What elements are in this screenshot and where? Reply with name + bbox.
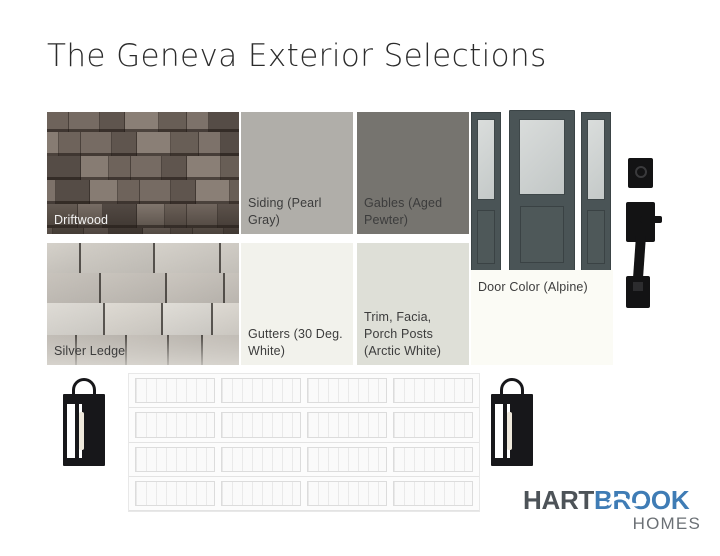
garage-door-image[interactable] bbox=[128, 373, 480, 512]
door-handleset-image[interactable] bbox=[622, 158, 662, 310]
lantern-backplate bbox=[510, 400, 533, 462]
lantern-bulb-icon bbox=[79, 412, 84, 450]
lantern-base bbox=[63, 458, 105, 466]
handleset-bottom-notch bbox=[633, 282, 643, 291]
door-raised-panel bbox=[520, 206, 564, 263]
swatch-label-siding: Siding (Pearl Gray) bbox=[248, 195, 347, 229]
door-sidelite-left bbox=[471, 112, 501, 271]
swatch-label-door-color: Door Color (Alpine) bbox=[478, 279, 607, 296]
swatch-shingle-driftwood[interactable]: Driftwood bbox=[47, 112, 239, 234]
sidelite-left-glass bbox=[477, 119, 495, 200]
handleset-lever-icon bbox=[640, 216, 662, 223]
logo-swoosh-icon bbox=[607, 495, 647, 509]
swatch-gutters-30-deg-white[interactable]: Gutters (30 Deg. White) bbox=[241, 243, 353, 365]
swatch-gables-aged-pewter[interactable]: Gables (Aged Pewter) bbox=[357, 112, 469, 234]
sidelite-right-panel bbox=[587, 210, 605, 264]
lantern-backplate bbox=[82, 400, 105, 462]
logo-text-homes: HOMES bbox=[633, 514, 701, 533]
door-sidelite-right bbox=[581, 112, 611, 271]
deadbolt-thumbturn-icon bbox=[635, 166, 647, 178]
sidelite-left-panel bbox=[477, 210, 495, 264]
deadbolt-escutcheon bbox=[628, 158, 653, 188]
swatch-door-color-alpine[interactable]: Door Color (Alpine) bbox=[471, 270, 613, 365]
swatch-label-gables: Gables (Aged Pewter) bbox=[364, 195, 463, 229]
outdoor-lantern-right[interactable] bbox=[483, 378, 541, 466]
hartbrook-homes-logo: HARTBROOK HOMES bbox=[523, 486, 703, 534]
lantern-mullion bbox=[503, 400, 507, 462]
swatch-trim-arctic-white[interactable]: Trim, Facia, Porch Posts (Arctic White) bbox=[357, 243, 469, 365]
slide-canvas: The Geneva Exterior Selections Driftwood… bbox=[0, 0, 720, 556]
swatch-label-gutters: Gutters (30 Deg. White) bbox=[248, 326, 347, 360]
lantern-base bbox=[491, 458, 533, 466]
handleset-bottom-plate bbox=[626, 276, 650, 308]
lantern-bulb-icon bbox=[507, 412, 512, 450]
entry-door-image[interactable] bbox=[471, 110, 613, 273]
logo-text-hart: HART bbox=[523, 485, 594, 515]
swatch-siding-pearl-gray[interactable]: Siding (Pearl Gray) bbox=[241, 112, 353, 234]
swatch-label-trim: Trim, Facia, Porch Posts (Arctic White) bbox=[364, 309, 463, 360]
swatch-label-silver-ledge: Silver Ledge bbox=[54, 343, 233, 360]
swatch-label-driftwood: Driftwood bbox=[54, 212, 233, 229]
lantern-mullion bbox=[75, 400, 79, 462]
swatch-stone-silver-ledge[interactable]: Silver Ledge bbox=[47, 243, 239, 365]
door-slab bbox=[509, 110, 575, 273]
outdoor-lantern-left[interactable] bbox=[55, 378, 113, 466]
page-title: The Geneva Exterior Selections bbox=[47, 38, 547, 74]
sidelite-right-glass bbox=[587, 119, 605, 200]
door-glass-lite bbox=[519, 119, 565, 195]
